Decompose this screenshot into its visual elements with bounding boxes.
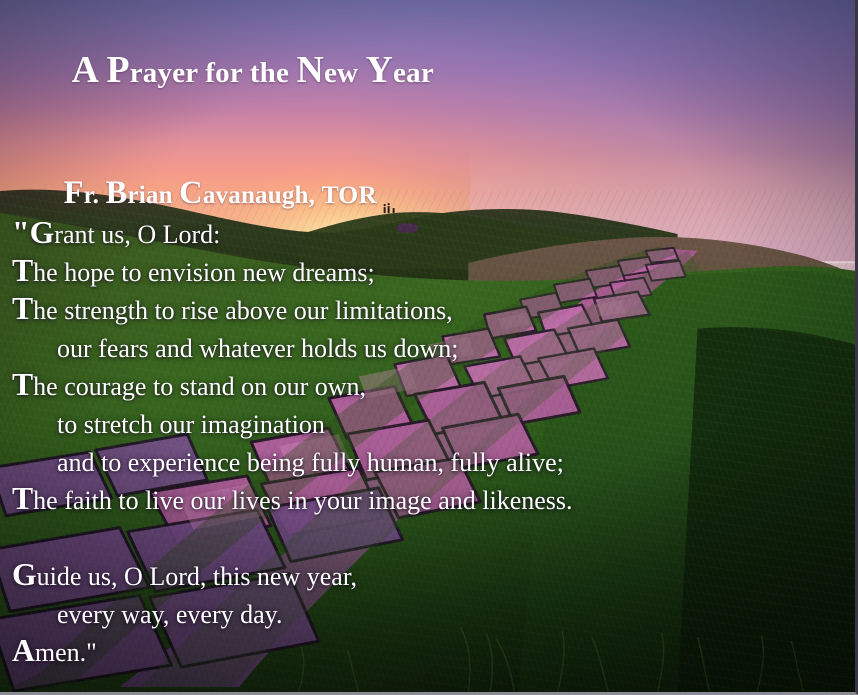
poem-line-text: he courage to stand on our own, <box>33 372 366 401</box>
poem-line-cap: T <box>12 291 33 326</box>
poem-line-cap: "G <box>12 215 54 250</box>
author-cap-f: F <box>64 175 84 211</box>
poem-line-text: rant us, O Lord: <box>54 220 220 249</box>
poem-line: to stretch our imagination <box>12 406 842 444</box>
poem-line-text: every way, every day. <box>57 600 282 629</box>
poem-line: The courage to stand on our own, <box>12 368 842 406</box>
poem-line-cap: G <box>12 557 37 592</box>
page-title: A Prayer for the New Year <box>12 12 434 135</box>
title-cap-y: Y <box>366 49 393 91</box>
poem-line-spacer <box>12 520 842 558</box>
poem-line-text: he hope to envision new dreams; <box>33 258 375 287</box>
poem-line-cap: T <box>12 481 33 516</box>
title-text-3: ew <box>324 57 366 89</box>
author-text-3: avanaugh, <box>203 182 322 209</box>
poem-line: Guide us, O Lord, this new year, <box>12 558 842 596</box>
poem-line: every way, every day. <box>12 596 842 634</box>
poem-line: Amen." <box>12 634 842 672</box>
title-text-2: rayer for the <box>130 57 297 89</box>
poem-line-cap: T <box>12 367 33 402</box>
poem-line: "Grant us, O Lord: <box>12 216 842 254</box>
poem-line-cap: A <box>12 633 35 668</box>
poem-line-text: to stretch our imagination <box>57 410 325 439</box>
poem-line-text: he strength to rise above our limitation… <box>33 296 453 325</box>
author-cap-c: C <box>179 175 203 211</box>
poem-line: and to experience being fully human, ful… <box>12 444 842 482</box>
poem-line: The strength to rise above our limitatio… <box>12 292 842 330</box>
title-cap-p: P <box>106 49 129 91</box>
author-text-1: r. <box>84 182 106 209</box>
poem-line-text: he faith to live our lives in your image… <box>33 486 572 515</box>
author-cap-b: B <box>106 175 128 211</box>
poem-body: "Grant us, O Lord: The hope to envision … <box>12 216 842 672</box>
poem-line-text: and to experience being fully human, ful… <box>57 448 564 477</box>
poem-line-text: uide us, O Lord, this new year, <box>37 562 357 591</box>
title-cap-a: A <box>72 49 99 91</box>
author-suffix-tor: TOR <box>322 180 377 209</box>
poster-image: A Prayer for the New Year Fr. Brian Cava… <box>0 0 858 695</box>
poem-line-text: men." <box>35 638 97 667</box>
poem-line: The hope to envision new dreams; <box>12 254 842 292</box>
title-text-4: ear <box>393 57 434 89</box>
poem-line: our fears and whatever holds us down; <box>12 330 842 368</box>
poem-line: The faith to live our lives in your imag… <box>12 482 842 520</box>
title-cap-n: N <box>297 49 324 91</box>
poem-line-cap: T <box>12 253 33 288</box>
author-text-2: rian <box>127 182 179 209</box>
poem-line-text: our fears and whatever holds us down; <box>57 334 458 363</box>
poem-text-overlay: A Prayer for the New Year Fr. Brian Cava… <box>0 0 855 692</box>
